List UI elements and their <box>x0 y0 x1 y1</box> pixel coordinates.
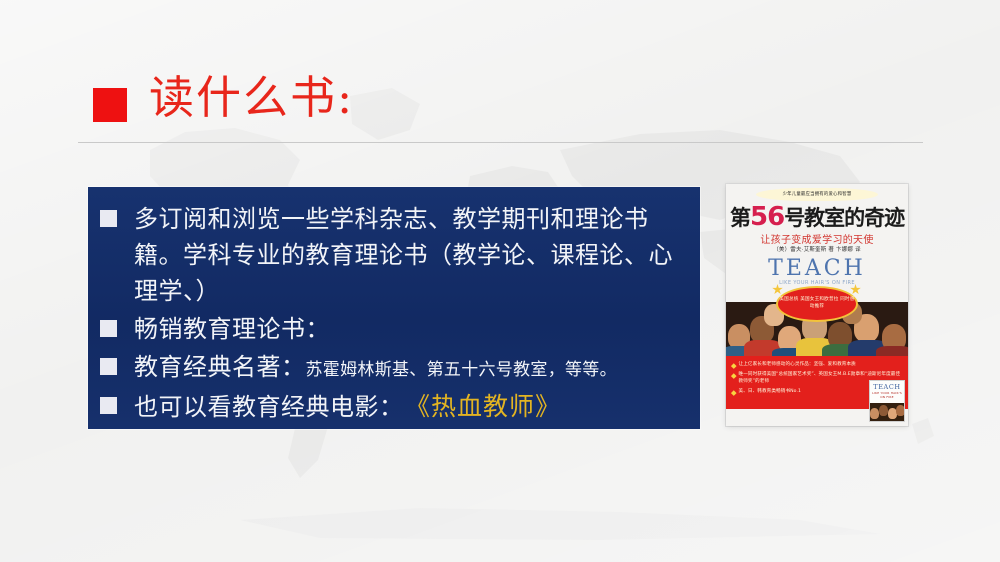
book-thumbnail-subtitle: LIKE YOUR HAIR'S ON FIRE <box>870 391 904 399</box>
book-award-badge: 美国总统 美国女王和欧普拉 同时感动推荐 <box>778 288 856 320</box>
list-item-text: 畅销教育理论书： <box>134 311 686 347</box>
diamond-bullet-icon <box>731 391 736 396</box>
bullet-list: 多订阅和浏览一些学科杂志、教学期刊和理论书籍。学科专业的教育理论书（教学论、课程… <box>88 187 700 426</box>
book-blurb-text: 让上亿家长和老师感动的心灵作品：坚强、爱和教育本质 <box>739 361 856 368</box>
white-square-bullet-icon <box>100 397 117 414</box>
slide: 读什么书: 多订阅和浏览一些学科杂志、教学期刊和理论书籍。学科专业的教育理论书（… <box>0 0 1000 562</box>
diamond-bullet-icon <box>731 363 736 368</box>
white-square-bullet-icon <box>100 320 117 337</box>
book-banner-text: 少年儿童最应当拥有的爱心和智慧 <box>756 188 878 202</box>
book-thumbnail-photo <box>870 403 904 421</box>
book-latin-title: TEACH <box>726 256 908 281</box>
list-item: 多订阅和浏览一些学科杂志、教学期刊和理论书籍。学科专业的教育理论书（教学论、课程… <box>100 201 686 309</box>
list-item-text: 多订阅和浏览一些学科杂志、教学期刊和理论书籍。学科专业的教育理论书（教学论、课程… <box>134 201 686 309</box>
book-title-number: 56 <box>750 202 784 232</box>
book-title-prefix: 第 <box>730 206 750 230</box>
list-item-lead: 教育经典名著： <box>134 353 306 381</box>
book-thumbnail-inset: TEACH LIKE YOUR HAIR'S ON FIRE <box>869 380 905 422</box>
list-item: 也可以看教育经典电影：《热血教师》 <box>100 388 686 426</box>
list-item: 畅销教育理论书： <box>100 311 686 347</box>
list-item-lead: 也可以看教育经典电影： <box>134 393 404 421</box>
white-square-bullet-icon <box>100 210 117 227</box>
list-item-text: 也可以看教育经典电影：《热血教师》 <box>134 388 686 426</box>
book-blurb-line: 让上亿家长和老师感动的心灵作品：坚强、爱和教育本质 <box>732 361 902 368</box>
book-title-suffix: 号教室的奇迹 <box>784 206 904 230</box>
book-blurb-text: 美、日、韩教育类畅销书No.1 <box>739 388 802 395</box>
page-title: 读什么书: <box>93 74 354 122</box>
movie-title-highlight: 《热血教师》 <box>404 392 562 421</box>
book-subtitle: 让孩子变成爱学习的天使 <box>726 231 908 246</box>
book-banner-ribbon: 少年儿童最应当拥有的爱心和智慧 <box>756 188 878 201</box>
book-award-badge-text: 美国总统 美国女王和欧普拉 同时感动推荐 <box>778 297 856 311</box>
book-title: 第56号教室的奇迹 <box>730 202 904 232</box>
list-item: 教育经典名著：苏霍姆林斯基、第五十六号教室，等等。 <box>100 349 686 385</box>
book-author: （美）雷夫·艾斯奎斯 著 卞娜娜 译 <box>726 245 908 253</box>
book-cover-image: 少年儿童最应当拥有的爱心和智慧 第56号教室的奇迹 让孩子变成爱学习的天使 （美… <box>726 184 908 426</box>
title-divider <box>78 142 923 143</box>
white-square-bullet-icon <box>100 358 117 375</box>
content-panel: 多订阅和浏览一些学科杂志、教学期刊和理论书籍。学科专业的教育理论书（教学论、课程… <box>88 187 700 429</box>
book-cover-inner: 少年儿童最应当拥有的爱心和智慧 第56号教室的奇迹 让孩子变成爱学习的天使 （美… <box>726 184 908 426</box>
list-item-text: 教育经典名著：苏霍姆林斯基、第五十六号教室，等等。 <box>134 349 686 385</box>
diamond-bullet-icon <box>731 373 736 378</box>
book-latin-subtitle: LIKE YOUR HAIR'S ON FIRE <box>726 280 908 286</box>
red-square-bullet-icon <box>93 88 127 122</box>
list-item-detail: 苏霍姆林斯基、第五十六号教室，等等。 <box>306 360 617 380</box>
book-thumbnail-title: TEACH <box>870 383 904 391</box>
page-title-text: 读什么书: <box>149 74 354 121</box>
